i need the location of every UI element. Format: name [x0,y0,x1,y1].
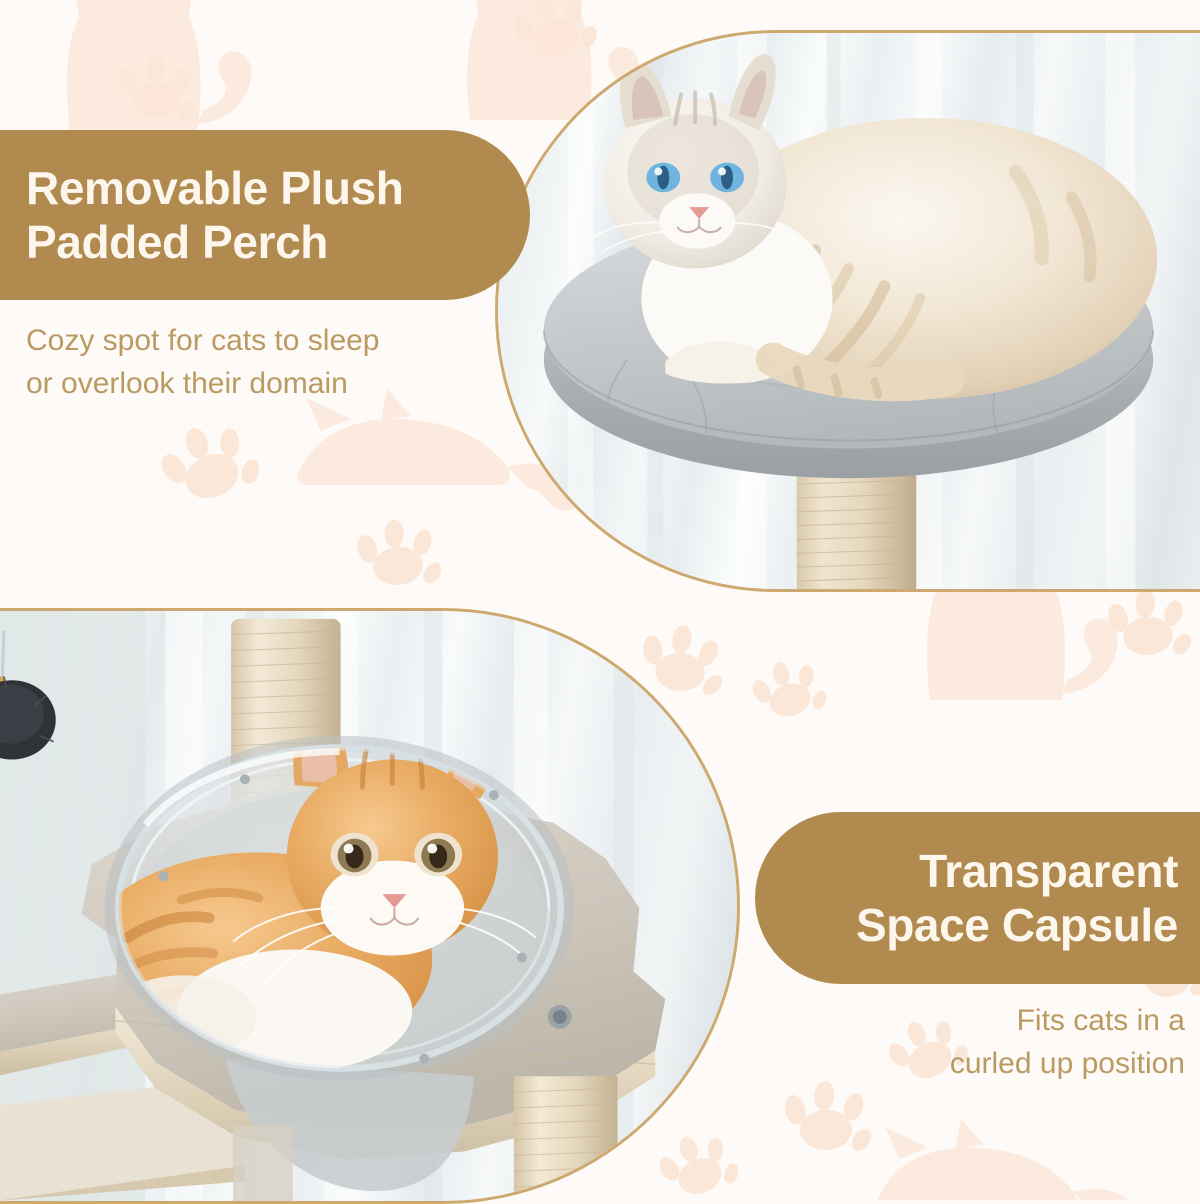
space-capsule-illustration [0,611,737,1201]
feature-subtitle-padded-perch: Cozy spot for cats to sleep or overlook … [26,320,486,405]
badge-line-2: Space Capsule [856,898,1178,952]
subtitle-line-2: curled up position [760,1043,1185,1086]
feature-subtitle-space-capsule: Fits cats in a curled up position [760,1000,1185,1085]
badge-line-2: Padded Perch [26,215,502,269]
subtitle-line-1: Fits cats in a [760,1000,1185,1043]
badge-line-1: Removable Plush [26,161,502,215]
subtitle-line-2: or overlook their domain [26,363,486,406]
feature-photo-padded-perch [495,30,1200,592]
feature-title-badge-space-capsule: Transparent Space Capsule [755,812,1200,984]
platform-screw [548,1005,572,1029]
feature-title-badge-padded-perch: Removable Plush Padded Perch [0,130,530,300]
subtitle-line-1: Cozy spot for cats to sleep [26,320,486,363]
badge-line-1: Transparent [919,844,1178,898]
padded-perch-illustration [498,33,1200,589]
feature-photo-space-capsule [0,608,740,1204]
